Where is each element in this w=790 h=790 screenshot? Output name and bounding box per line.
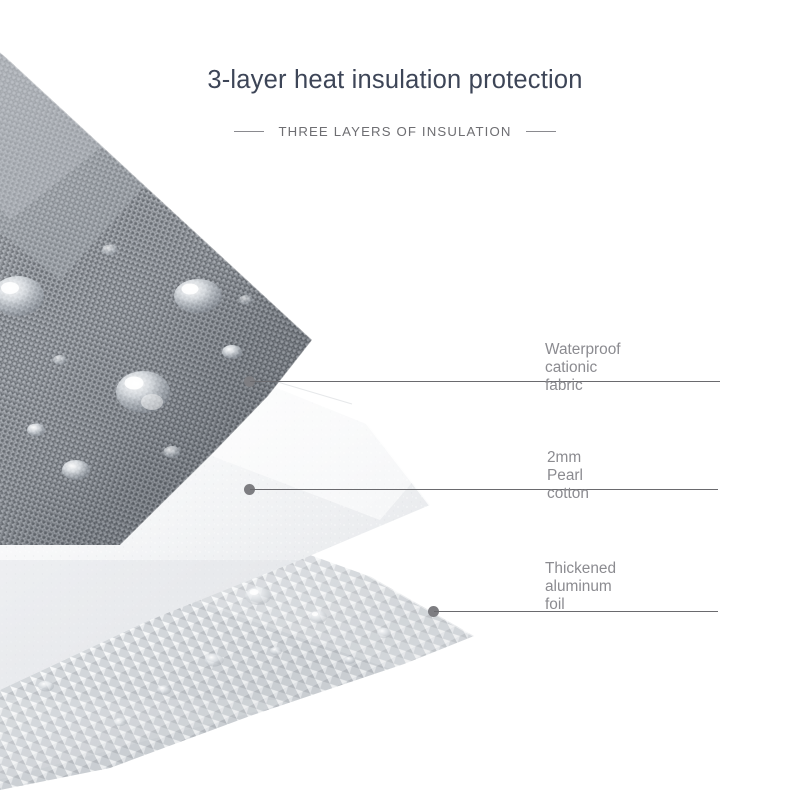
callout-label-foil: Thickened aluminum foil bbox=[545, 560, 616, 614]
callout-label-fabric: Waterproof cationic fabric bbox=[545, 341, 621, 395]
product-infographic: 3-layer heat insulation protection THREE… bbox=[0, 0, 790, 790]
leader-line-fabric bbox=[250, 381, 720, 382]
page-title: 3-layer heat insulation protection bbox=[0, 66, 790, 95]
subtitle-row: THREE LAYERS OF INSULATION bbox=[0, 124, 790, 139]
callout-label-cotton: 2mm Pearl cotton bbox=[547, 449, 589, 503]
leader-line-cotton bbox=[250, 489, 718, 490]
page-subtitle: THREE LAYERS OF INSULATION bbox=[278, 124, 511, 139]
subtitle-dash-left-icon bbox=[234, 131, 264, 132]
subtitle-dash-right-icon bbox=[526, 131, 556, 132]
material-layers-illustration bbox=[0, 0, 790, 790]
